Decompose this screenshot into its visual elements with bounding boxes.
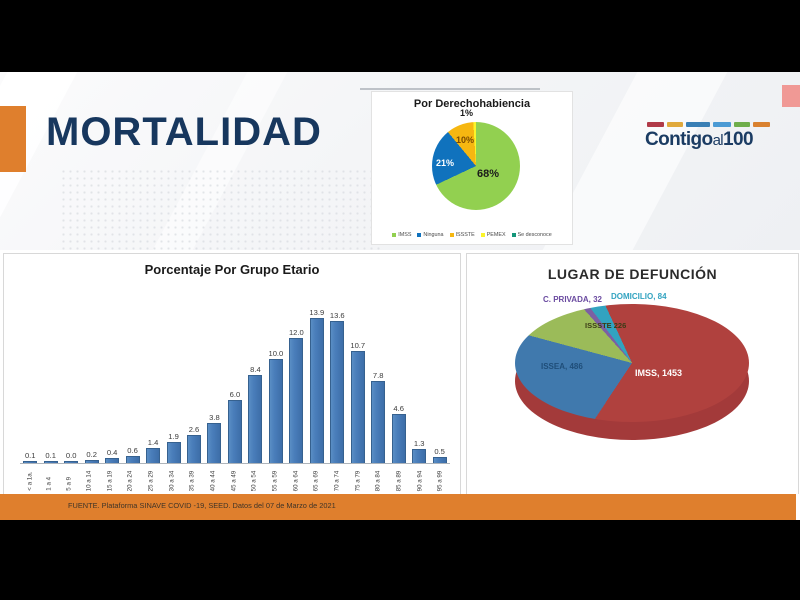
pie2-title: LUGAR DE DEFUNCIÓN [467, 266, 798, 282]
header-streak-2 [153, 72, 288, 250]
bar: 1.9 [167, 442, 181, 464]
legend-swatch-issste [450, 233, 454, 237]
logo-dash-2 [667, 122, 684, 127]
bar-value-label: 1.3 [414, 439, 425, 448]
legend-label-issste: ISSSTE [456, 232, 475, 238]
bar-column: 0.2 [81, 309, 101, 464]
bar-chart-title: Porcentaje Por Grupo Etario [4, 262, 460, 277]
bar-column: 0.0 [61, 309, 81, 464]
logo-word-100: 100 [723, 129, 753, 150]
pie-top-label-ninguna: 21% [436, 158, 454, 168]
footer-right-notch [796, 494, 800, 520]
bar: 1.4 [146, 448, 160, 464]
pie2-label-domicilio: DOMICILIO, 84 [611, 292, 667, 301]
bar-x-tick-labels: < a 1a.1 a 45 a 910 a 1415 a 1920 a 2425… [20, 468, 450, 494]
bar-value-label: 0.0 [66, 451, 77, 460]
bar-column: 6.0 [225, 309, 245, 464]
bar-value-label: 1.4 [148, 438, 159, 447]
bar: 12.0 [289, 338, 303, 464]
bar: 2.6 [187, 435, 201, 464]
pie-top-label-pemex: 1% [460, 108, 473, 118]
bar: 7.8 [371, 381, 385, 464]
bar: 3.8 [207, 423, 221, 464]
bar-value-label: 10.7 [350, 341, 365, 350]
bar-column: 10.7 [348, 309, 368, 464]
pie-top-graphic: 1% 10% 21% 68% [422, 120, 522, 212]
legend-swatch-pemex [481, 233, 485, 237]
bar-value-label: 2.6 [189, 425, 200, 434]
pie-top-label-imss: 68% [477, 168, 499, 180]
bar-value-label: 0.6 [127, 446, 138, 455]
chart-por-derechohabiencia: Por Derechohabiencia 1% 10% 21% 68% IMSS [371, 91, 573, 245]
pie-top-legend: IMSS Ninguna ISSSTE PEMEX [372, 232, 572, 238]
bar-value-label: 8.4 [250, 365, 261, 374]
legend-swatch-se-desconoce [512, 233, 516, 237]
footer-source-text: FUENTE. Plataforma SINAVE COVID -19, SEE… [68, 501, 336, 510]
pie2-label-imss: IMSS, 1453 [635, 368, 682, 378]
bar-column: 4.6 [388, 309, 408, 464]
bar-column: 1.4 [143, 309, 163, 464]
legend-swatch-imss [392, 233, 396, 237]
legend-item-pemex: PEMEX [481, 232, 506, 238]
bar-column: 0.4 [102, 309, 122, 464]
bar-column: 8.4 [245, 309, 265, 464]
logo-word-al: al [713, 132, 723, 149]
bar-column: 13.9 [307, 309, 327, 464]
slide-header: MORTALIDAD Contigoal100 Por Derechohabie… [0, 72, 800, 250]
slide-footer: FUENTE. Plataforma SINAVE COVID -19, SEE… [0, 494, 800, 520]
bar-column: 0.1 [20, 309, 40, 464]
bar: 13.9 [310, 318, 324, 464]
bar-x-tick-label: 95 a 99 [427, 471, 453, 492]
legend-swatch-ninguna [417, 233, 421, 237]
bar-value-label: 13.6 [330, 311, 345, 320]
logo-text: Contigoal100 [645, 130, 770, 149]
bar-series: 0.10.10.00.20.40.61.41.92.63.86.08.410.0… [20, 309, 450, 464]
logo-dash-1 [647, 122, 664, 127]
bar-value-label: 0.1 [25, 451, 36, 460]
bar: 1.3 [412, 449, 426, 464]
bar-value-label: 7.8 [373, 371, 384, 380]
bar: 8.4 [248, 375, 262, 464]
chart-porcentaje-por-grupo-etario: Porcentaje Por Grupo Etario 0.10.10.00.2… [3, 253, 461, 496]
legend-item-issste: ISSSTE [450, 232, 475, 238]
page-title: MORTALIDAD [46, 110, 322, 155]
logo-dash-6 [753, 122, 770, 127]
pie2-label-issea: ISSEA, 486 [541, 362, 583, 371]
bar-column: 13.6 [327, 309, 347, 464]
legend-label-ninguna: Ninguna [423, 232, 443, 238]
bar-column: 1.9 [163, 309, 183, 464]
header-dot-pattern [60, 168, 380, 250]
legend-item-se-desconoce: Se desconoce [512, 232, 552, 238]
logo-dash-3 [686, 122, 710, 127]
bar-value-label: 0.5 [434, 447, 445, 456]
bar-column: 7.8 [368, 309, 388, 464]
pink-accent-square [782, 85, 800, 107]
pie2-label-c-privada: C. PRIVADA, 32 [543, 295, 602, 304]
bar-column: 12.0 [286, 309, 306, 464]
bar-value-label: 10.0 [268, 349, 283, 358]
bar-column: 2.6 [184, 309, 204, 464]
pie-top-label-issste: 10% [456, 135, 474, 145]
bar-value-label: 0.2 [86, 450, 97, 459]
bar-value-label: 1.9 [168, 432, 179, 441]
bar-value-label: 12.0 [289, 328, 304, 337]
bar-value-label: 0.1 [45, 451, 56, 460]
orange-accent-block [0, 106, 26, 172]
bar-value-label: 6.0 [230, 390, 241, 399]
pie2-label-issste: ISSSTE 226 [585, 322, 619, 331]
header-rule [360, 88, 540, 90]
bar-plot-area: 0.10.10.00.20.40.61.41.92.63.86.08.410.0… [20, 282, 450, 464]
legend-label-pemex: PEMEX [487, 232, 506, 238]
logo-dash-5 [734, 122, 751, 127]
bar: 6.0 [228, 400, 242, 464]
contigo-al-100-logo: Contigoal100 [645, 122, 770, 156]
logo-dashes [645, 122, 770, 127]
pie2-graphic [515, 304, 749, 454]
bar-value-label: 3.8 [209, 413, 220, 422]
bar-value-label: 4.6 [393, 404, 404, 413]
bar-column: 3.8 [204, 309, 224, 464]
bar-value-label: 0.4 [107, 448, 118, 457]
bar-column: 0.5 [429, 309, 449, 464]
bar-x-axis [20, 463, 450, 464]
bar-column: 10.0 [266, 309, 286, 464]
bar-column: 1.3 [409, 309, 429, 464]
bar: 13.6 [330, 321, 344, 464]
bar: 4.6 [392, 414, 406, 464]
legend-label-se-desconoce: Se desconoce [518, 232, 552, 238]
bar-column: 0.6 [122, 309, 142, 464]
bar: 10.7 [351, 351, 365, 464]
logo-dash-4 [713, 122, 731, 127]
legend-label-imss: IMSS [398, 232, 411, 238]
legend-item-ninguna: Ninguna [417, 232, 443, 238]
bar-column: 0.1 [40, 309, 60, 464]
chart-lugar-de-defuncion: LUGAR DE DEFUNCIÓN DOMICILIO, 84 C. PRIV… [466, 253, 799, 496]
screenshot-stage: MORTALIDAD Contigoal100 Por Derechohabie… [0, 0, 800, 600]
bar-value-label: 13.9 [309, 308, 324, 317]
logo-word-contigo: Contigo [645, 129, 713, 150]
presentation-slide: MORTALIDAD Contigoal100 Por Derechohabie… [0, 72, 800, 520]
bar: 10.0 [269, 359, 283, 464]
legend-item-imss: IMSS [392, 232, 411, 238]
